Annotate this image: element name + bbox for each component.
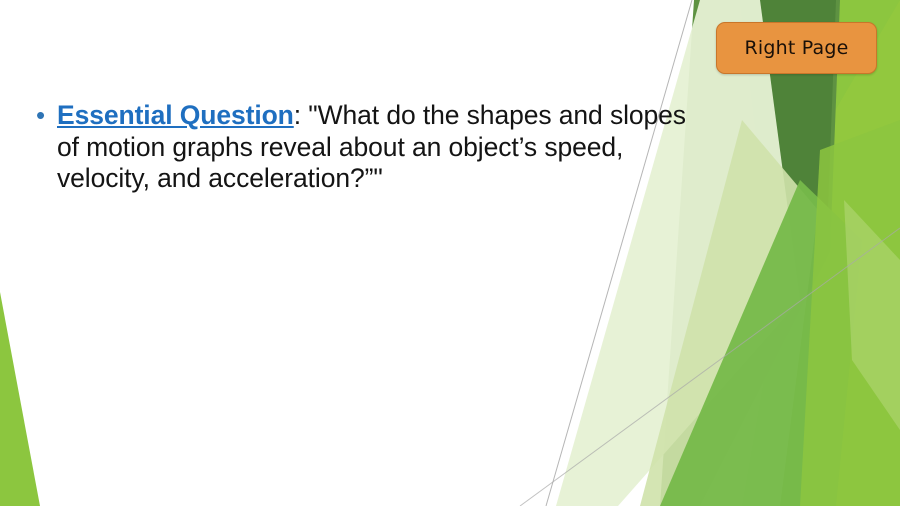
facet-shape-right-bright bbox=[742, 0, 900, 506]
facet-decoration-artwork bbox=[0, 0, 900, 506]
body-text-block: • Essential Question: "What do the shape… bbox=[30, 100, 700, 195]
essential-question-label[interactable]: Essential Question bbox=[57, 100, 294, 130]
bullet-marker-icon: • bbox=[30, 100, 57, 131]
facet-shape-right-bright-2 bbox=[770, 0, 900, 506]
right-page-button[interactable]: Right Page bbox=[716, 22, 877, 74]
facet-shape-pale-wedge bbox=[556, 0, 800, 506]
bullet-list-item: • Essential Question: "What do the shape… bbox=[30, 100, 700, 195]
facet-shape-mid-band-2 bbox=[800, 120, 900, 506]
right-page-button-label: Right Page bbox=[744, 37, 848, 59]
facet-shape-light-sliver bbox=[844, 200, 900, 430]
corner-wedge-bottom-left bbox=[0, 292, 40, 506]
facet-guide-line-1 bbox=[546, 0, 692, 506]
slide-canvas: • Essential Question: "What do the shape… bbox=[0, 0, 900, 506]
bullet-item-text: Essential Question: "What do the shapes … bbox=[57, 100, 700, 195]
facet-shape-dark-column bbox=[660, 0, 840, 506]
essential-question-separator: : bbox=[294, 100, 309, 130]
facet-shape-mid-band bbox=[660, 180, 862, 506]
facet-guide-line-2 bbox=[520, 228, 900, 506]
